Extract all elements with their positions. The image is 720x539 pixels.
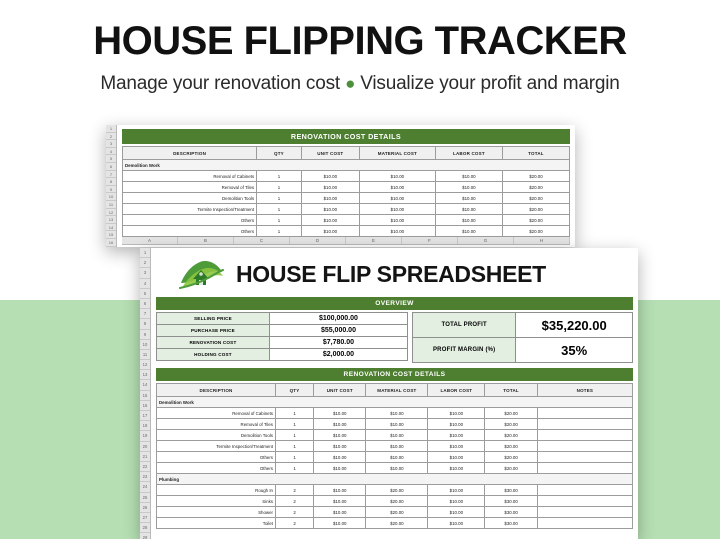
cell-labor-cost[interactable]: $10.00 xyxy=(435,193,502,204)
cell-notes[interactable] xyxy=(537,441,632,452)
cell-qty[interactable]: 1 xyxy=(276,430,314,441)
table-row[interactable]: Rough In2$10.00$20.00$10.00$30.00 xyxy=(157,485,633,496)
table-row[interactable]: Demolition Tools1$10.00$10.00$10.00$20.0… xyxy=(123,193,570,204)
back-row-gutter[interactable]: 1234567891011121314151617 xyxy=(106,125,117,247)
back-col-labor-cost: LABOR COST xyxy=(435,147,502,160)
cell-description[interactable]: Removal of Cabinets xyxy=(157,408,276,419)
cell-total[interactable]: $20.00 xyxy=(485,441,537,452)
cell-notes[interactable] xyxy=(537,463,632,474)
overview-row[interactable]: PURCHASE PRICE$55,000.00 xyxy=(157,325,408,337)
cell-unit-cost[interactable]: $10.00 xyxy=(301,193,359,204)
front-spreadsheet[interactable]: 1234567891011121314151617181920212223242… xyxy=(140,248,638,539)
cell-notes[interactable] xyxy=(537,485,632,496)
row-number[interactable]: 2 xyxy=(106,133,116,141)
overview-section: SELLING PRICE$100,000.00PURCHASE PRICE$5… xyxy=(156,312,633,363)
overview-row[interactable]: PROFIT MARGIN (%)35% xyxy=(413,338,633,363)
cell-unit-cost[interactable]: $10.00 xyxy=(314,419,366,430)
cell-total[interactable]: $20.00 xyxy=(485,408,537,419)
front-col-notes: NOTES xyxy=(537,384,632,397)
row-number[interactable]: 16 xyxy=(106,239,116,247)
row-number[interactable]: 9 xyxy=(140,330,150,340)
row-number[interactable]: 4 xyxy=(106,148,116,156)
table-row[interactable]: Sinks2$10.00$20.00$10.00$30.00 xyxy=(157,496,633,507)
cell-notes[interactable] xyxy=(537,496,632,507)
cell-unit-cost[interactable]: $10.00 xyxy=(301,182,359,193)
cell-labor-cost[interactable]: $10.00 xyxy=(435,182,502,193)
overview-left-panel: SELLING PRICE$100,000.00PURCHASE PRICE$5… xyxy=(156,312,408,363)
cell-qty[interactable]: 1 xyxy=(276,452,314,463)
overview-value[interactable]: $100,000.00 xyxy=(269,313,407,325)
table-section-row[interactable]: Demolition Work xyxy=(123,160,570,171)
table-row[interactable]: Others1$10.00$10.00$10.00$20.00 xyxy=(123,215,570,226)
cell-qty[interactable]: 2 xyxy=(276,485,314,496)
row-number[interactable]: 17 xyxy=(140,411,150,421)
cell-labor-cost[interactable]: $10.00 xyxy=(435,204,502,215)
cell-total[interactable]: $20.00 xyxy=(502,182,569,193)
row-number[interactable]: 2 xyxy=(140,258,150,268)
cell-material-cost[interactable]: $20.00 xyxy=(366,485,428,496)
overview-value[interactable]: $35,220.00 xyxy=(516,313,633,338)
cell-total[interactable]: $20.00 xyxy=(502,226,569,237)
cell-qty[interactable]: 2 xyxy=(276,496,314,507)
overview-label: PROFIT MARGIN (%) xyxy=(413,338,516,363)
cell-total[interactable]: $20.00 xyxy=(485,463,537,474)
row-number[interactable]: 9 xyxy=(106,186,116,194)
cell-total[interactable]: $30.00 xyxy=(485,507,537,518)
cell-qty[interactable]: 1 xyxy=(257,226,302,237)
cell-unit-cost[interactable]: $10.00 xyxy=(314,408,366,419)
column-letter[interactable]: G xyxy=(458,237,514,244)
cell-labor-cost[interactable]: $10.00 xyxy=(435,171,502,182)
cell-unit-cost[interactable]: $10.00 xyxy=(314,518,366,529)
overview-label: PURCHASE PRICE xyxy=(157,325,270,337)
cell-qty[interactable]: 1 xyxy=(257,215,302,226)
front-col-qty: QTY xyxy=(276,384,314,397)
overview-row[interactable]: SELLING PRICE$100,000.00 xyxy=(157,313,408,325)
column-letter[interactable]: E xyxy=(346,237,402,244)
cell-material-cost[interactable]: $10.00 xyxy=(366,452,428,463)
row-number[interactable]: 14 xyxy=(140,380,150,390)
cell-material-cost[interactable]: $10.00 xyxy=(366,419,428,430)
row-number[interactable]: 3 xyxy=(140,268,150,278)
cell-total[interactable]: $20.00 xyxy=(502,193,569,204)
cell-total[interactable]: $20.00 xyxy=(502,215,569,226)
cell-description[interactable]: Others xyxy=(157,463,276,474)
overview-label: HOLDING COST xyxy=(157,349,270,361)
row-number[interactable]: 13 xyxy=(140,370,150,380)
column-letter[interactable]: C xyxy=(234,237,290,244)
cell-qty[interactable]: 2 xyxy=(276,518,314,529)
cell-labor-cost[interactable]: $10.00 xyxy=(428,507,485,518)
back-col-description: DESCRIPTION xyxy=(123,147,257,160)
cell-description[interactable]: Termite Inspection/Treatment xyxy=(123,204,257,215)
row-number[interactable]: 10 xyxy=(106,193,116,201)
row-number[interactable]: 22 xyxy=(140,462,150,472)
overview-label: RENOVATION COST xyxy=(157,337,270,349)
cell-material-cost[interactable]: $10.00 xyxy=(366,441,428,452)
cell-notes[interactable] xyxy=(537,507,632,518)
cell-total[interactable]: $20.00 xyxy=(502,204,569,215)
overview-row[interactable]: RENOVATION COST$7,780.00 xyxy=(157,337,408,349)
overview-left-table[interactable]: SELLING PRICE$100,000.00PURCHASE PRICE$5… xyxy=(156,312,408,361)
cell-unit-cost[interactable]: $10.00 xyxy=(314,441,366,452)
cell-qty[interactable]: 1 xyxy=(257,171,302,182)
row-number[interactable]: 11 xyxy=(140,350,150,360)
cell-total[interactable]: $20.00 xyxy=(485,430,537,441)
back-col-total: TOTAL xyxy=(502,147,569,160)
cell-description[interactable]: Sinks xyxy=(157,496,276,507)
cell-total[interactable]: $20.00 xyxy=(485,452,537,463)
table-row[interactable]: Demolition Tools1$10.00$10.00$10.00$20.0… xyxy=(157,430,633,441)
cell-qty[interactable]: 1 xyxy=(276,408,314,419)
front-col-total: TOTAL xyxy=(485,384,537,397)
cell-description[interactable]: Demolition Tools xyxy=(123,193,257,204)
row-number[interactable]: 10 xyxy=(140,340,150,350)
cell-qty[interactable]: 1 xyxy=(257,204,302,215)
row-number[interactable]: 17 xyxy=(106,247,116,248)
cell-labor-cost[interactable]: $10.00 xyxy=(428,463,485,474)
cell-total[interactable]: $20.00 xyxy=(502,171,569,182)
front-col-labor-cost: LABOR COST xyxy=(428,384,485,397)
cell-material-cost[interactable]: $10.00 xyxy=(359,182,435,193)
overview-value[interactable]: $7,780.00 xyxy=(269,337,407,349)
overview-value[interactable]: $55,000.00 xyxy=(269,325,407,337)
cell-labor-cost[interactable]: $10.00 xyxy=(428,452,485,463)
overview-row[interactable]: HOLDING COST$2,000.00 xyxy=(157,349,408,361)
row-number[interactable]: 1 xyxy=(140,248,150,258)
house-roof-leaf-logo-icon xyxy=(178,257,224,291)
front-renovation-table[interactable]: DESCRIPTION QTY UNIT COST MATERIAL COST … xyxy=(156,383,633,529)
table-row[interactable]: Termite Inspection/Treatment1$10.00$10.0… xyxy=(123,204,570,215)
bullet-separator-icon: ● xyxy=(345,74,355,93)
column-letter[interactable]: F xyxy=(402,237,458,244)
page-title: HOUSE FLIPPING TRACKER xyxy=(0,20,720,62)
overview-label: TOTAL PROFIT xyxy=(413,313,516,338)
table-row[interactable]: Others1$10.00$10.00$10.00$20.00 xyxy=(157,463,633,474)
front-col-description: DESCRIPTION xyxy=(157,384,276,397)
table-row[interactable]: Removal of Cabinets1$10.00$10.00$10.00$2… xyxy=(157,408,633,419)
cell-material-cost[interactable]: $10.00 xyxy=(359,193,435,204)
row-number[interactable]: 20 xyxy=(140,442,150,452)
cell-material-cost[interactable]: $10.00 xyxy=(366,430,428,441)
cell-unit-cost[interactable]: $10.00 xyxy=(314,430,366,441)
cell-material-cost[interactable]: $20.00 xyxy=(366,496,428,507)
back-spreadsheet[interactable]: 1234567891011121314151617 RENOVATION COS… xyxy=(106,125,575,247)
front-col-material-cost: MATERIAL COST xyxy=(366,384,428,397)
page-subtitle: Manage your renovation cost ● Visualize … xyxy=(0,73,720,95)
row-number[interactable]: 7 xyxy=(106,171,116,179)
front-renovation-band: RENOVATION COST DETAILS xyxy=(156,368,633,381)
cell-description[interactable]: Others xyxy=(157,452,276,463)
cell-material-cost[interactable]: $20.00 xyxy=(366,507,428,518)
cell-labor-cost[interactable]: $10.00 xyxy=(428,496,485,507)
cell-description[interactable]: Demolition Tools xyxy=(157,430,276,441)
row-number[interactable]: 23 xyxy=(140,472,150,482)
cell-description[interactable]: Rough In xyxy=(157,485,276,496)
row-number[interactable]: 11 xyxy=(106,201,116,209)
cell-unit-cost[interactable]: $10.00 xyxy=(314,507,366,518)
column-letter[interactable]: H xyxy=(514,237,570,244)
row-number[interactable]: 24 xyxy=(140,482,150,492)
subtitle-left-text: Manage your renovation cost xyxy=(100,73,340,94)
brand-row: HOUSE FLIP SPREADSHEET xyxy=(156,251,633,297)
cell-material-cost[interactable]: $20.00 xyxy=(366,518,428,529)
cell-material-cost[interactable]: $10.00 xyxy=(359,215,435,226)
overview-row[interactable]: TOTAL PROFIT$35,220.00 xyxy=(413,313,633,338)
table-row[interactable]: Others1$10.00$10.00$10.00$20.00 xyxy=(157,452,633,463)
cell-notes[interactable] xyxy=(537,408,632,419)
cell-unit-cost[interactable]: $10.00 xyxy=(314,463,366,474)
table-section-row[interactable]: Plumbing xyxy=(157,474,633,485)
table-row[interactable]: Removal of Tiles1$10.00$10.00$10.00$20.0… xyxy=(157,419,633,430)
cell-unit-cost[interactable]: $10.00 xyxy=(301,215,359,226)
cell-unit-cost[interactable]: $10.00 xyxy=(314,452,366,463)
row-number[interactable]: 13 xyxy=(106,216,116,224)
table-row[interactable]: Termite Inspection/Treatment1$10.00$10.0… xyxy=(157,441,633,452)
cell-total[interactable]: $30.00 xyxy=(485,485,537,496)
overview-right-table[interactable]: TOTAL PROFIT$35,220.00PROFIT MARGIN (%)3… xyxy=(412,312,633,363)
cell-labor-cost[interactable]: $10.00 xyxy=(435,226,502,237)
table-row[interactable]: Toilet2$10.00$20.00$10.00$30.00 xyxy=(157,518,633,529)
cell-unit-cost[interactable]: $10.00 xyxy=(301,226,359,237)
cell-unit-cost[interactable]: $10.00 xyxy=(301,171,359,182)
row-number[interactable]: 4 xyxy=(140,279,150,289)
row-number[interactable]: 7 xyxy=(140,309,150,319)
cell-qty[interactable]: 1 xyxy=(257,193,302,204)
cell-description[interactable]: Others xyxy=(123,215,257,226)
cell-qty[interactable]: 1 xyxy=(276,441,314,452)
cell-unit-cost[interactable]: $10.00 xyxy=(314,496,366,507)
back-renovation-band: RENOVATION COST DETAILS xyxy=(122,129,570,144)
row-number[interactable]: 21 xyxy=(140,452,150,462)
row-number[interactable]: 6 xyxy=(140,299,150,309)
front-col-unit-cost: UNIT COST xyxy=(314,384,366,397)
row-number[interactable]: 25 xyxy=(140,493,150,503)
row-number[interactable]: 12 xyxy=(140,360,150,370)
cell-description[interactable]: Termite Inspection/Treatment xyxy=(157,441,276,452)
back-renovation-table[interactable]: DESCRIPTION QTY UNIT COST MATERIAL COST … xyxy=(122,146,570,237)
cell-labor-cost[interactable]: $10.00 xyxy=(428,485,485,496)
table-row[interactable]: Removal of Cabinets1$10.00$10.00$10.00$2… xyxy=(123,171,570,182)
cell-labor-cost[interactable]: $10.00 xyxy=(428,441,485,452)
cell-material-cost[interactable]: $10.00 xyxy=(366,463,428,474)
row-number[interactable]: 12 xyxy=(106,209,116,217)
cell-total[interactable]: $30.00 xyxy=(485,496,537,507)
row-number[interactable]: 18 xyxy=(140,421,150,431)
table-row[interactable]: Shower2$10.00$20.00$10.00$30.00 xyxy=(157,507,633,518)
cell-description[interactable]: Removal of Tiles xyxy=(157,419,276,430)
table-section-row[interactable]: Demolition Work xyxy=(157,397,633,408)
cell-notes[interactable] xyxy=(537,419,632,430)
overview-value[interactable]: $2,000.00 xyxy=(269,349,407,361)
overview-label: SELLING PRICE xyxy=(157,313,270,325)
cell-unit-cost[interactable]: $10.00 xyxy=(314,485,366,496)
cell-description[interactable]: Others xyxy=(123,226,257,237)
row-number[interactable]: 16 xyxy=(140,401,150,411)
cell-qty[interactable]: 1 xyxy=(276,419,314,430)
cell-unit-cost[interactable]: $10.00 xyxy=(301,204,359,215)
cell-labor-cost[interactable]: $10.00 xyxy=(428,408,485,419)
back-col-material-cost: MATERIAL COST xyxy=(359,147,435,160)
cell-labor-cost[interactable]: $10.00 xyxy=(435,215,502,226)
subtitle-right-text: Visualize your profit and margin xyxy=(360,73,619,94)
cell-notes[interactable] xyxy=(537,430,632,441)
table-row[interactable]: Others1$10.00$10.00$10.00$20.00 xyxy=(123,226,570,237)
row-number[interactable]: 6 xyxy=(106,163,116,171)
brand-title: HOUSE FLIP SPREADSHEET xyxy=(236,261,546,288)
back-column-letter-row: ABCDEFGH xyxy=(122,237,570,245)
cell-material-cost[interactable]: $10.00 xyxy=(359,226,435,237)
row-number[interactable]: 1 xyxy=(106,125,116,133)
overview-value[interactable]: 35% xyxy=(516,338,633,363)
cell-description[interactable]: Shower xyxy=(157,507,276,518)
overview-band: OVERVIEW xyxy=(156,297,633,310)
row-number[interactable]: 3 xyxy=(106,140,116,148)
cell-labor-cost[interactable]: $10.00 xyxy=(428,430,485,441)
row-number[interactable]: 27 xyxy=(140,513,150,523)
row-number[interactable]: 5 xyxy=(140,289,150,299)
cell-labor-cost[interactable]: $10.00 xyxy=(428,518,485,529)
cell-notes[interactable] xyxy=(537,518,632,529)
row-number[interactable]: 26 xyxy=(140,503,150,513)
page-header: HOUSE FLIPPING TRACKER Manage your renov… xyxy=(0,0,720,95)
row-number[interactable]: 15 xyxy=(140,391,150,401)
overview-right-panel: TOTAL PROFIT$35,220.00PROFIT MARGIN (%)3… xyxy=(412,312,633,363)
table-row[interactable]: Removal of Tiles1$10.00$10.00$10.00$20.0… xyxy=(123,182,570,193)
row-number[interactable]: 8 xyxy=(140,319,150,329)
row-number[interactable]: 15 xyxy=(106,231,116,239)
cell-notes[interactable] xyxy=(537,452,632,463)
cell-qty[interactable]: 1 xyxy=(257,182,302,193)
cell-qty[interactable]: 2 xyxy=(276,507,314,518)
column-letter[interactable]: A xyxy=(122,237,178,244)
front-row-gutter[interactable]: 1234567891011121314151617181920212223242… xyxy=(140,248,151,539)
row-number[interactable]: 14 xyxy=(106,224,116,232)
cell-description[interactable]: Removal of Tiles xyxy=(123,182,257,193)
cell-material-cost[interactable]: $10.00 xyxy=(366,408,428,419)
row-number[interactable]: 29 xyxy=(140,533,150,539)
back-col-unit-cost: UNIT COST xyxy=(301,147,359,160)
row-number[interactable]: 19 xyxy=(140,431,150,441)
back-table-header-row: DESCRIPTION QTY UNIT COST MATERIAL COST … xyxy=(123,147,570,160)
cell-description[interactable]: Toilet xyxy=(157,518,276,529)
column-letter[interactable]: B xyxy=(178,237,234,244)
cell-material-cost[interactable]: $10.00 xyxy=(359,204,435,215)
column-letter[interactable]: D xyxy=(290,237,346,244)
cell-labor-cost[interactable]: $10.00 xyxy=(428,419,485,430)
row-number[interactable]: 5 xyxy=(106,155,116,163)
front-table-header-row: DESCRIPTION QTY UNIT COST MATERIAL COST … xyxy=(157,384,633,397)
cell-total[interactable]: $20.00 xyxy=(485,419,537,430)
cell-total[interactable]: $30.00 xyxy=(485,518,537,529)
cell-description[interactable]: Removal of Cabinets xyxy=(123,171,257,182)
row-number[interactable]: 8 xyxy=(106,178,116,186)
cell-qty[interactable]: 1 xyxy=(276,463,314,474)
back-col-qty: QTY xyxy=(257,147,302,160)
row-number[interactable]: 28 xyxy=(140,523,150,533)
cell-material-cost[interactable]: $10.00 xyxy=(359,171,435,182)
